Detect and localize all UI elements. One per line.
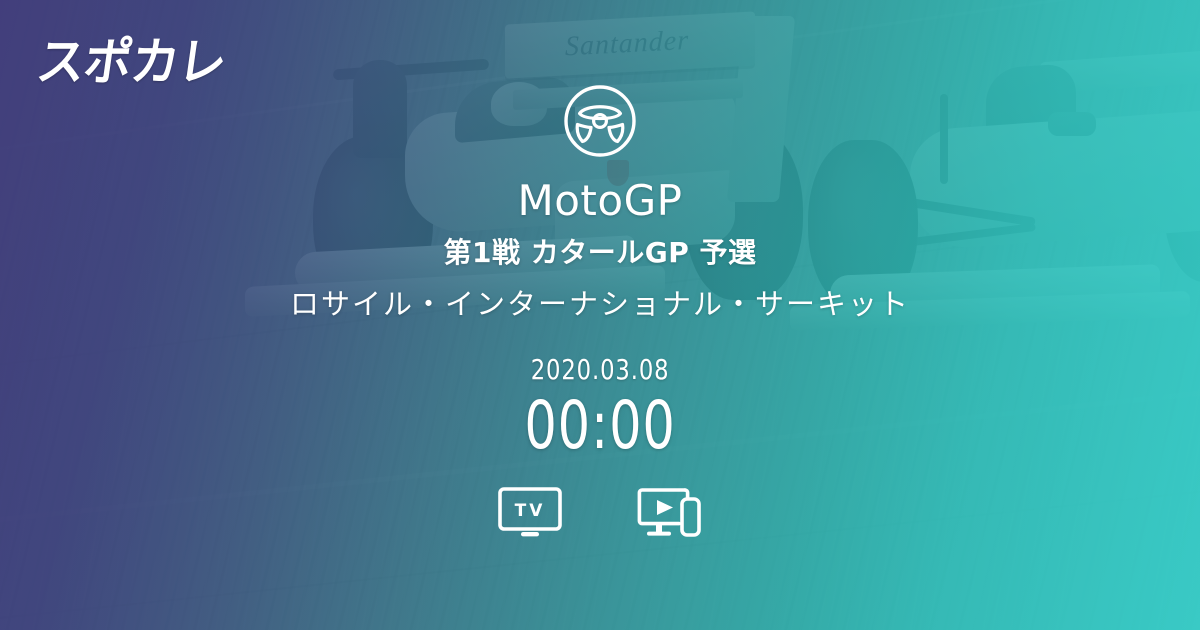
event-time: 00:00	[524, 390, 675, 461]
broadcast-icons: TV	[497, 487, 703, 539]
banner-content: スポカレ MotoGP 第1戦 カタールGP 予選 ロサイル・インターナショナル…	[0, 0, 1200, 630]
page-title: MotoGP	[518, 176, 683, 225]
streaming-devices-icon[interactable]	[637, 487, 703, 539]
spokare-logo[interactable]: スポカレ	[33, 20, 231, 94]
event-date: 2020.03.08	[531, 353, 670, 386]
event-subtitle: 第1戦 カタールGP 予選	[444, 231, 757, 271]
tv-icon-label: TV	[515, 501, 546, 521]
steering-wheel-icon	[561, 82, 639, 160]
event-banner-card: Santander スポカレ	[0, 0, 1200, 630]
event-venue: ロサイル・インターナショナル・サーキット	[290, 281, 910, 323]
tv-icon[interactable]: TV	[497, 487, 563, 539]
